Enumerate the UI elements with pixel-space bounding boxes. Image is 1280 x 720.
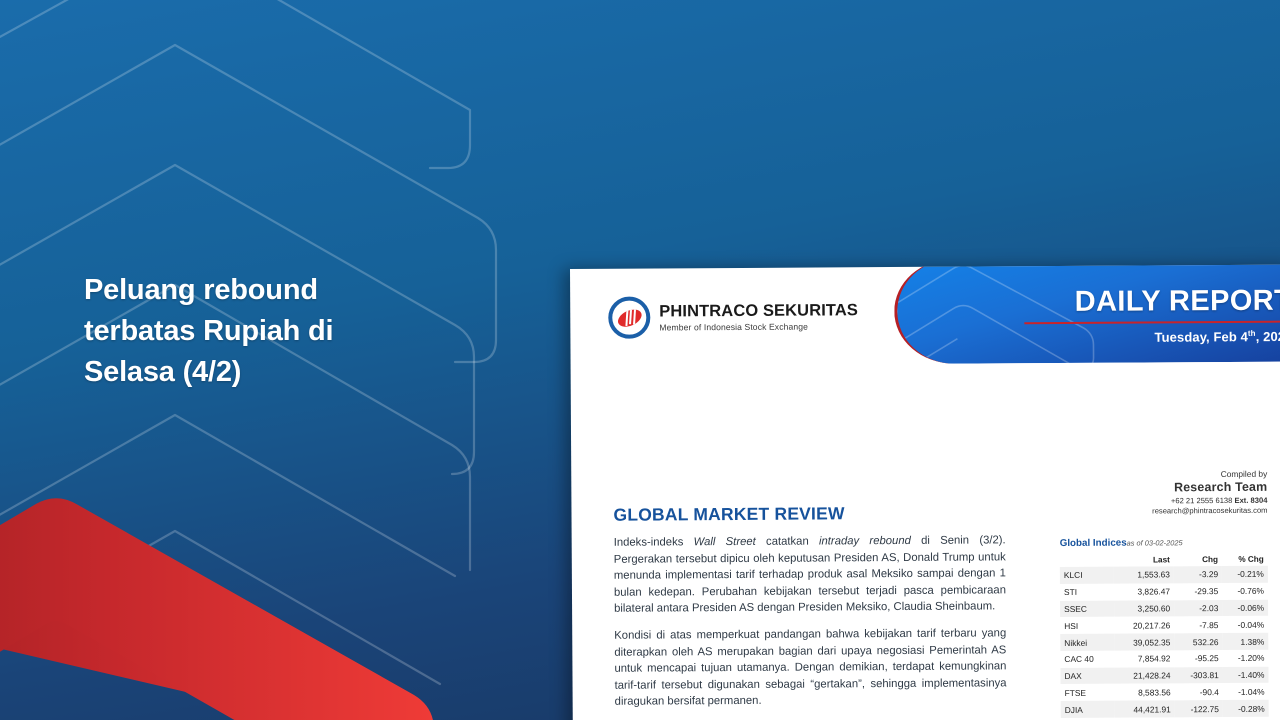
index-pct: -0.21% [1222, 566, 1268, 583]
index-chg: -122.75 [1175, 700, 1223, 717]
col-name [1060, 554, 1114, 567]
review-paragraph: Kondisi di atas memperkuat pandangan bah… [614, 625, 1006, 710]
banner-underline [1024, 321, 1280, 325]
index-pct: -0.06% [1222, 599, 1268, 616]
index-name: SSEC [1060, 600, 1114, 617]
global-indices-table: Last Chg % Chg KLCI1,553.63-3.29-0.21%ST… [1060, 553, 1269, 720]
banner-date: Tuesday, Feb 4th, 2025 [1154, 329, 1280, 345]
index-chg: -2.03 [1174, 600, 1222, 617]
index-pct: -1.20% [1223, 650, 1269, 667]
index-last: 1,553.63 [1114, 566, 1174, 583]
global-indices-heading: Global Indicesas of 03-02-2025 [1060, 537, 1268, 549]
global-indices-asof: as of 03-02-2025 [1127, 538, 1183, 547]
index-last: 39,052.35 [1114, 633, 1174, 650]
compiled-email: research@phintracosekuritas.com [1059, 506, 1267, 516]
brand-name: PHINTRACO SEKURITAS [659, 301, 858, 320]
page-title: Peluang rebound terbatas Rupiah di Selas… [84, 270, 414, 394]
table-row: Nikkei39,052.35532.261.38% [1060, 633, 1268, 651]
brand-tagline: Member of Indonesia Stock Exchange [659, 321, 858, 332]
global-indices-title: Global Indices [1060, 538, 1127, 549]
index-pct: -0.28% [1223, 700, 1269, 717]
compiled-by-block: Compiled by Research Team +62 21 2555 61… [1059, 469, 1267, 516]
index-chg: -303.81 [1175, 667, 1223, 684]
index-pct: 1.38% [1222, 633, 1268, 650]
review-paragraph: Indeks-indeks Wall Street catatkan intra… [614, 532, 1006, 617]
index-chg: -7.85 [1174, 616, 1222, 633]
banner-title: DAILY REPORT [1075, 285, 1280, 319]
index-name: CAC 40 [1060, 651, 1114, 668]
daily-report-document[interactable]: PHINTRACO SEKURITAS Member of Indonesia … [570, 265, 1280, 720]
section-title: GLOBAL MARKET REVIEW [613, 502, 1005, 525]
document-header: PHINTRACO SEKURITAS Member of Indonesia … [570, 265, 1280, 373]
banner-date-year: , 2025 [1256, 329, 1280, 344]
index-last: 3,826.47 [1114, 583, 1174, 600]
col-pct: % Chg [1222, 553, 1268, 566]
table-row: CAC 407,854.92-95.25-1.20% [1060, 650, 1268, 668]
index-name: HSI [1060, 617, 1114, 634]
index-chg: -3.29 [1174, 566, 1222, 583]
index-last: 20,217.26 [1114, 617, 1174, 634]
index-chg: -95.25 [1174, 650, 1222, 667]
brand-lockup: PHINTRACO SEKURITAS Member of Indonesia … [608, 295, 858, 339]
table-row: HSI20,217.26-7.85-0.04% [1060, 616, 1268, 634]
index-name: DJIA [1061, 701, 1115, 718]
index-last: 44,421.91 [1115, 701, 1175, 718]
phone-ext: Ext. 8304 [1234, 496, 1267, 505]
daily-report-banner: DAILY REPORT Tuesday, Feb 4th, 2025 [894, 265, 1280, 364]
phintraco-logo-icon [608, 297, 650, 339]
index-name: Nikkei [1060, 634, 1114, 651]
index-last: 3,250.60 [1114, 600, 1174, 617]
col-last: Last [1114, 553, 1174, 566]
compiled-team: Research Team [1059, 480, 1267, 495]
index-chg: -29.35 [1174, 583, 1222, 600]
table-header-row: Last Chg % Chg [1060, 553, 1268, 567]
compiled-label: Compiled by [1059, 469, 1267, 480]
compiled-phone: +62 21 2555 6138 Ext. 8304 [1059, 496, 1267, 506]
table-row: DAX21,428.24-303.81-1.40% [1060, 666, 1268, 684]
index-last: 7,854.92 [1114, 650, 1174, 667]
red-chevron-graphic [0, 448, 460, 720]
index-last: 8,583.56 [1115, 684, 1175, 701]
index-last: 21,428.24 [1115, 667, 1175, 684]
table-row: FTSE8,583.56-90.4-1.04% [1061, 683, 1269, 701]
index-name: DAX [1060, 667, 1114, 684]
col-chg: Chg [1174, 553, 1222, 566]
indices-column: Compiled by Research Team +62 21 2555 61… [1059, 469, 1269, 720]
index-chg: -90.4 [1175, 683, 1223, 700]
index-pct: -1.04% [1223, 683, 1269, 700]
index-pct: -0.04% [1222, 616, 1268, 633]
table-row: SSEC3,250.60-2.03-0.06% [1060, 599, 1268, 617]
banner-date-main: Tuesday, Feb 4 [1154, 329, 1247, 345]
index-name: STI [1060, 583, 1114, 600]
table-row: KLCI1,553.63-3.29-0.21% [1060, 566, 1268, 584]
slide-canvas: Peluang rebound terbatas Rupiah di Selas… [0, 0, 1280, 720]
index-pct: -0.76% [1222, 583, 1268, 600]
index-chg: 532.26 [1174, 633, 1222, 650]
table-row: DJIA44,421.91-122.75-0.28% [1061, 700, 1269, 718]
table-row: STI3,826.47-29.35-0.76% [1060, 583, 1268, 601]
index-name: KLCI [1060, 567, 1114, 584]
index-pct: -1.40% [1223, 666, 1269, 683]
index-name: FTSE [1061, 684, 1115, 701]
global-market-review-column: GLOBAL MARKET REVIEW Indeks-indeks Wall … [613, 502, 1007, 720]
phone-number: +62 21 2555 6138 [1171, 496, 1233, 505]
